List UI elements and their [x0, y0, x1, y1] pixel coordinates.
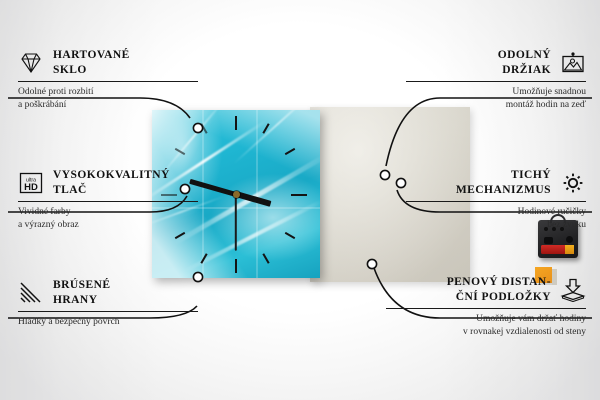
feature-title: BRÚSENÉ HRANY: [53, 278, 111, 307]
feature-description: Umožňuje snadnou montáž hodin na zeď: [406, 86, 586, 111]
feature-foam-spacers: PENOVÝ DISTAN- ČNÍ PODLOŽKY Umožňuje vám…: [386, 275, 586, 339]
divider: [406, 201, 586, 202]
second-hand: [235, 194, 237, 251]
ultra-hd-icon: ultra HD: [18, 171, 44, 195]
movement-detail: [544, 237, 553, 244]
feature-brushed-edges: BRÚSENÉ HRANY Hladký a bezpečný povrch: [18, 278, 198, 329]
infographic-canvas: HARTOVANÉ SKLO Odolné proti rozbití a po…: [0, 0, 600, 400]
feature-header: PENOVÝ DISTAN- ČNÍ PODLOŽKY: [386, 275, 586, 304]
clock-hub: [233, 191, 240, 198]
feature-description: Odolné proti rozbití a poškrábání: [18, 86, 198, 111]
feature-title: ODOLNÝ DRŽIAK: [498, 48, 551, 77]
diamond-icon: [18, 51, 44, 75]
battery: [541, 245, 574, 254]
feature-description: Hladký a bezpečný povrch: [18, 316, 198, 329]
feature-header: ODOLNÝ DRŽIAK: [406, 48, 586, 77]
divider: [18, 81, 198, 82]
picture-frame-hanger-icon: [560, 51, 586, 75]
movement-detail: [566, 236, 573, 243]
feature-silent-mechanism: TICHÝ MECHANIZMUS Hodinové ručičky bez z…: [406, 168, 586, 232]
foam-spacer-icon: [560, 278, 586, 302]
feature-header: ultra HD VYSOKOKVALITNÝ TLAČ: [18, 168, 198, 197]
divider: [18, 311, 198, 312]
feature-description: Umožňuje vám držať hodiny v rovnakej vzd…: [386, 313, 586, 338]
divider: [386, 308, 586, 309]
feature-high-quality-print: ultra HD VYSOKOKVALITNÝ TLAČ Vividné far…: [18, 168, 198, 232]
feature-title: VYSOKOKVALITNÝ TLAČ: [53, 168, 170, 197]
feature-description: Vividné farby a výrazný obraz: [18, 206, 198, 231]
feature-header: HARTOVANÉ SKLO: [18, 48, 198, 77]
feature-title: TICHÝ MECHANIZMUS: [456, 168, 551, 197]
divider: [18, 201, 198, 202]
feature-tempered-glass: HARTOVANÉ SKLO Odolné proti rozbití a po…: [18, 48, 198, 112]
gear-icon: [560, 171, 586, 195]
feature-description: Hodinové ručičky bez zvuku: [406, 206, 586, 231]
brushed-edges-icon: [18, 281, 44, 305]
feature-title: HARTOVANÉ SKLO: [53, 48, 130, 77]
feature-header: BRÚSENÉ HRANY: [18, 278, 198, 307]
feature-title: PENOVÝ DISTAN- ČNÍ PODLOŽKY: [447, 275, 551, 304]
feature-durable-holder: ODOLNÝ DRŽIAK Umožňuje snadnou montáž ho…: [406, 48, 586, 112]
divider: [406, 81, 586, 82]
svg-text:HD: HD: [24, 182, 38, 193]
feature-header: TICHÝ MECHANIZMUS: [406, 168, 586, 197]
